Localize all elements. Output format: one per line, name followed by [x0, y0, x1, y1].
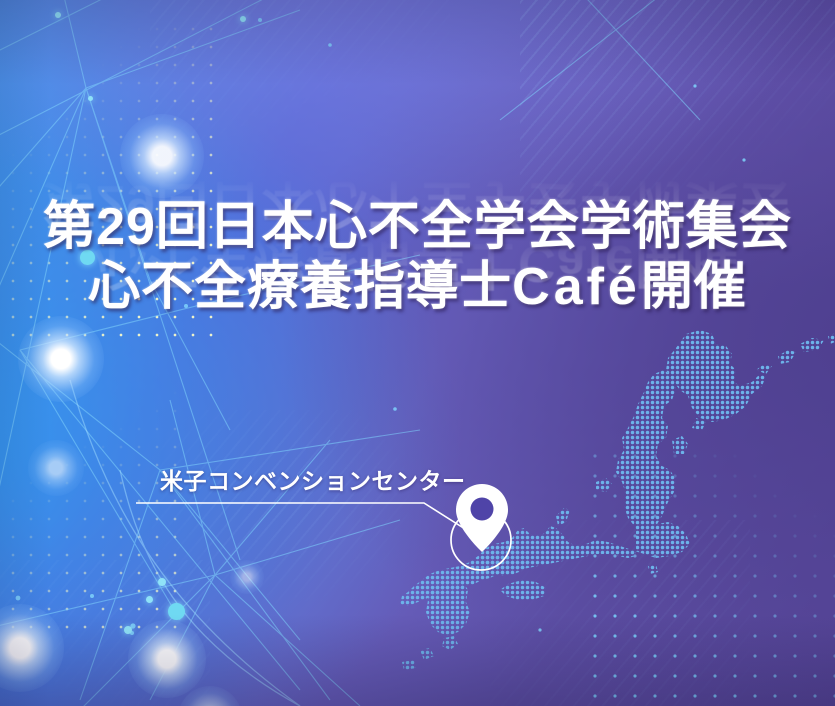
event-banner: 第29回日本心不全学会学術集会 第29回日本心不全学会学術集会 心不全療養指導士… — [0, 0, 835, 706]
background-vignette — [0, 0, 835, 706]
